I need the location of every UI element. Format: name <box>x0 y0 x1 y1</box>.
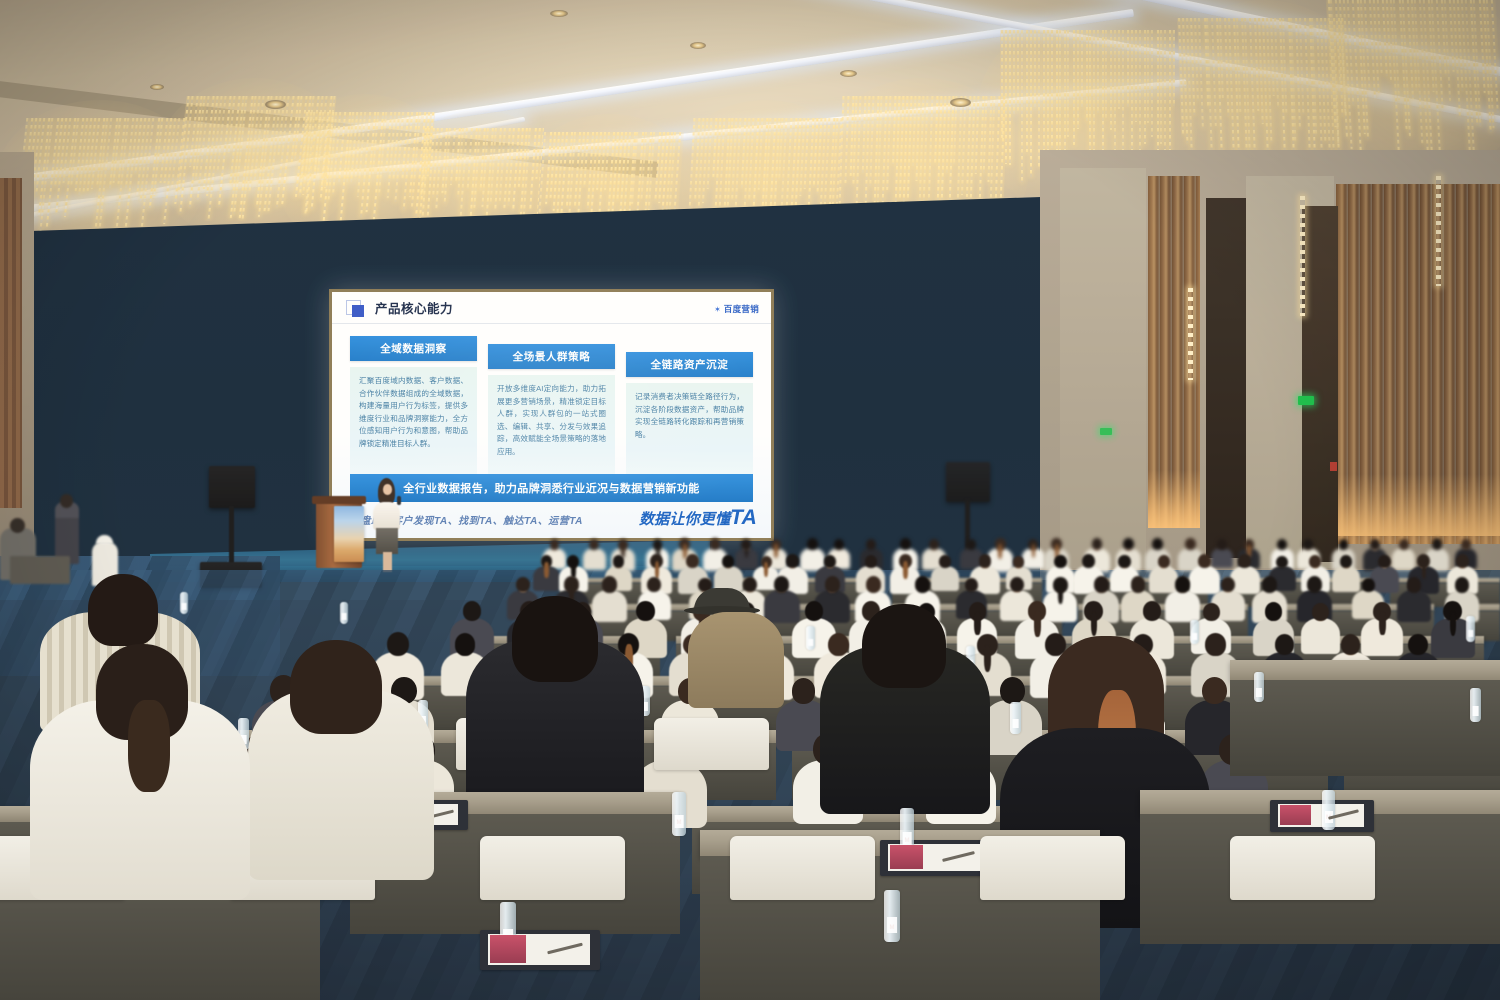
attendee-head <box>865 555 877 568</box>
podium-event-banner <box>334 506 364 562</box>
presenter-skirt <box>376 528 398 554</box>
attendee-head <box>1340 555 1352 568</box>
wall-panel-a <box>1060 168 1146 568</box>
conference-chair <box>1230 836 1375 900</box>
attendee-foreground-dark-center-head <box>512 596 598 682</box>
capability-column-1: 全域数据洞察 汇聚百度域内数据、客户数据、合作伙伴数据组成的全域数据，构建海量用… <box>350 336 477 479</box>
column-heading-3: 全链路资产沉淀 <box>626 352 753 377</box>
attendee-ponytail <box>903 561 908 578</box>
attendee-foreground-white-left-tail <box>128 700 170 792</box>
attendee-head <box>455 633 475 655</box>
column-heading-2: 全场景人群策略 <box>488 344 615 369</box>
attendee-head <box>1217 539 1226 549</box>
attendee-head <box>866 576 881 593</box>
water-bottle: M <box>884 890 900 942</box>
attendee-head <box>1158 555 1170 568</box>
attendee-ponytail <box>984 645 991 672</box>
attendee-foreground-olive-right-head <box>862 604 946 688</box>
attendee-head <box>387 632 409 656</box>
attendee-torso <box>1149 566 1178 593</box>
title-square-outline-icon <box>346 300 361 315</box>
attendee-head <box>1312 603 1329 621</box>
downlight-5 <box>950 98 971 107</box>
attendee-torso <box>1301 618 1341 654</box>
exit-sign-right <box>1298 396 1314 405</box>
attendee-head <box>1455 577 1470 593</box>
attendee-ponytail <box>544 562 548 578</box>
attendee-torso <box>1332 566 1360 592</box>
pendant-bead-light-3 <box>1436 176 1441 286</box>
bottle-logo: M <box>905 838 910 844</box>
attendee-head <box>1131 576 1146 592</box>
attendee-head <box>1198 554 1211 568</box>
pendant-bead-light-2 <box>1188 288 1193 380</box>
slat-uplight-right <box>1336 474 1500 536</box>
attendee-ponytail <box>1379 612 1385 636</box>
attendee-torso <box>1189 566 1220 594</box>
table-skirt-right-mid <box>1230 680 1500 776</box>
attendee-head <box>1399 539 1409 550</box>
projection-screen: 产品核心能力 ✶ 百度营销 全域数据洞察 汇聚百度域内数据、客户数据、合作伙伴数… <box>329 289 774 541</box>
attendee-head <box>1265 602 1282 621</box>
conference-hall-photo: 产品核心能力 ✶ 百度营销 全域数据洞察 汇聚百度域内数据、客户数据、合作伙伴数… <box>0 0 1500 1000</box>
brand-name: 百度营销 <box>724 303 759 315</box>
attendee-torso <box>764 590 800 623</box>
staff-person-standing <box>55 502 79 564</box>
presenter-face <box>383 484 392 495</box>
attendee-head <box>939 555 951 568</box>
title-square-fill-icon <box>352 305 364 317</box>
column-body-1: 汇聚百度域内数据、客户数据、合作伙伴数据组成的全域数据，构建海量用户行为标签，提… <box>350 367 477 479</box>
attendee-head <box>1275 634 1294 655</box>
downlight-0 <box>150 84 164 90</box>
attendee-head <box>463 601 481 621</box>
attendee-head <box>1203 603 1220 621</box>
attendee-head <box>807 538 817 549</box>
attendee-head <box>589 539 599 550</box>
slide-banner: 全行业数据报告，助力品牌洞悉行业近况与数据营销新功能 <box>350 474 753 502</box>
attendee-head <box>602 576 617 592</box>
water-bottle <box>1254 672 1264 702</box>
attendee-head <box>550 539 560 550</box>
attendee-head <box>1408 634 1427 655</box>
attendee-torso <box>1397 590 1432 622</box>
attendee-head <box>1185 538 1196 550</box>
presenter-blouse <box>373 502 400 530</box>
footer-right-label: 数据让你更懂 <box>639 511 730 528</box>
capability-columns: 全域数据洞察 汇聚百度域内数据、客户数据、合作伙伴数据组成的全域数据，构建海量用… <box>350 336 753 479</box>
fire-alarm-box <box>1330 462 1337 471</box>
slat-uplight-left <box>1148 470 1200 528</box>
attendee-ponytail <box>1058 585 1063 605</box>
exit-sign-center <box>1100 428 1112 435</box>
conference-chair <box>654 718 769 770</box>
water-bottle: M <box>672 792 686 836</box>
doorway-recess <box>1206 198 1246 558</box>
attendee-head <box>1432 538 1443 550</box>
attendee-foreground-white-mid-head <box>290 640 382 734</box>
attendee-head <box>786 554 799 568</box>
attendee-head <box>866 539 876 550</box>
staff-person-standing-head <box>60 494 73 508</box>
presenter-microphone <box>397 496 401 505</box>
conference-chair <box>480 836 625 900</box>
chandelier-cluster-9 <box>1326 0 1500 160</box>
conference-chair <box>730 836 875 900</box>
attendee-ponytail <box>1034 611 1041 636</box>
speaker-stand-pole <box>229 506 234 568</box>
seated-person-left-corner-head <box>10 518 25 533</box>
attendee-head <box>915 576 930 592</box>
attendee-ponytail <box>1032 544 1035 557</box>
water-bottle <box>1010 702 1021 734</box>
attendee-head <box>1262 576 1277 592</box>
column-body-3: 记录消费者决策链全路径行为，沉淀各阶段数据资产，帮助品牌实现全链路转化跟踪和再营… <box>626 383 753 479</box>
attendee-head <box>1461 539 1470 549</box>
attendee-head <box>516 577 530 592</box>
attendee-head <box>1309 555 1321 568</box>
water-bottle <box>1470 688 1481 722</box>
attendee-head <box>805 601 823 621</box>
attendee-head <box>1092 538 1103 550</box>
attendee-head <box>686 554 699 568</box>
left-curtain <box>0 178 22 508</box>
attendee-head <box>1456 554 1469 568</box>
water-bottle <box>180 592 188 614</box>
attendee-head <box>1378 555 1390 568</box>
attendee-head <box>1054 555 1066 569</box>
footer-right-text: 数据让你更懂TA <box>639 506 757 530</box>
water-bottle <box>340 602 348 624</box>
attendee-head <box>1277 539 1287 550</box>
brand-logo: ✶ 百度营销 <box>714 303 759 315</box>
brand-paw-icon: ✶ <box>714 305 721 314</box>
slide-title-group: 产品核心能力 <box>346 298 453 317</box>
attendee-head <box>1118 555 1130 568</box>
attendee-head <box>1339 539 1349 550</box>
attendee-torso <box>1392 548 1416 570</box>
attendee-torso <box>583 548 607 570</box>
attendee-head <box>1307 576 1322 592</box>
attendee-head <box>1123 538 1134 550</box>
attendee-head <box>824 555 837 569</box>
attendee-head <box>710 538 720 549</box>
attendee-ponytail <box>974 612 980 635</box>
attendee-head <box>929 539 939 550</box>
attendee-torso <box>931 566 958 591</box>
column-body-2: 开放多维度AI定向能力，助力拓展更多营销场景，精准锁定目标人群，实现人群包的一站… <box>488 375 615 479</box>
podium-top-surface <box>312 496 366 504</box>
attendee-head <box>1094 576 1109 592</box>
slide-title: 产品核心能力 <box>375 298 453 317</box>
attendee-ponytail <box>1450 611 1457 636</box>
attendee-head <box>1303 539 1313 550</box>
attendee-foreground-striped-head <box>88 574 158 646</box>
attendee-head <box>1143 601 1162 621</box>
presenter-legs <box>383 552 392 572</box>
attendee-foreground-khaki-blazer <box>688 612 784 708</box>
attendee-head <box>1205 633 1226 655</box>
attendee-head <box>1370 539 1380 550</box>
pendant-bead-light-1 <box>1300 196 1305 316</box>
conference-chair <box>980 836 1125 900</box>
attendee-head <box>1175 576 1190 592</box>
bottle-logo: M <box>677 820 682 826</box>
notepad-red-tab <box>490 935 526 963</box>
pa-speaker <box>209 466 255 508</box>
attendee-head <box>900 538 911 550</box>
capability-column-2: 全场景人群策略 开放多维度AI定向能力，助力拓展更多营销场景，精准锁定目标人群，… <box>488 336 615 479</box>
white-cap-icon <box>96 535 113 544</box>
attendee-head <box>979 554 992 568</box>
attendee-head <box>1082 554 1095 568</box>
attendee-head <box>825 576 840 593</box>
bottle-logo: M <box>890 925 895 931</box>
attendee-head <box>792 678 816 704</box>
attendee-head <box>774 576 789 592</box>
attendee-head <box>1276 556 1287 568</box>
attendee-ponytail <box>1422 561 1427 579</box>
attendee-torso <box>1370 566 1399 593</box>
slide-footer: 全盘助力客户发现TA、找到TA、触达TA、运营TA 数据让你更懂TA <box>350 506 757 530</box>
attendee-ponytail <box>774 544 778 558</box>
attendee-head <box>613 555 625 568</box>
pa-speaker-right <box>946 462 990 502</box>
attendee-head <box>1202 677 1227 704</box>
attendee-head <box>1362 578 1375 593</box>
attendee-head <box>834 539 844 549</box>
attendee-torso <box>1211 548 1233 568</box>
column-heading-1: 全域数据洞察 <box>350 336 477 361</box>
water-bottle <box>1466 616 1475 642</box>
capability-column-3: 全链路资产沉淀 记录消费者决策链全路径行为，沉淀各阶段数据资产，帮助品牌实现全链… <box>626 336 753 479</box>
notepad-red-tab <box>890 845 923 869</box>
water-bottle <box>806 626 815 650</box>
water-bottle: M <box>1322 790 1335 830</box>
attendee-head <box>1000 677 1025 705</box>
door-dark-right <box>1302 206 1338 562</box>
notepad-red-tab <box>1280 805 1311 825</box>
attendee-head <box>1407 577 1422 593</box>
downlight-1 <box>265 100 286 109</box>
downlight-3 <box>690 42 706 49</box>
side-table-left <box>10 556 70 584</box>
attendee-head <box>1152 538 1163 550</box>
attendee-head <box>743 577 757 592</box>
footer-ta-accent: TA <box>730 506 757 529</box>
attendee-head <box>967 539 977 549</box>
attendee-torso <box>592 590 627 622</box>
water-bottle <box>1190 620 1199 644</box>
attendee-torso <box>1165 590 1200 622</box>
conference-table-right-mid <box>1230 660 1500 682</box>
attendee-head <box>828 633 849 656</box>
attendee-head <box>636 601 654 621</box>
